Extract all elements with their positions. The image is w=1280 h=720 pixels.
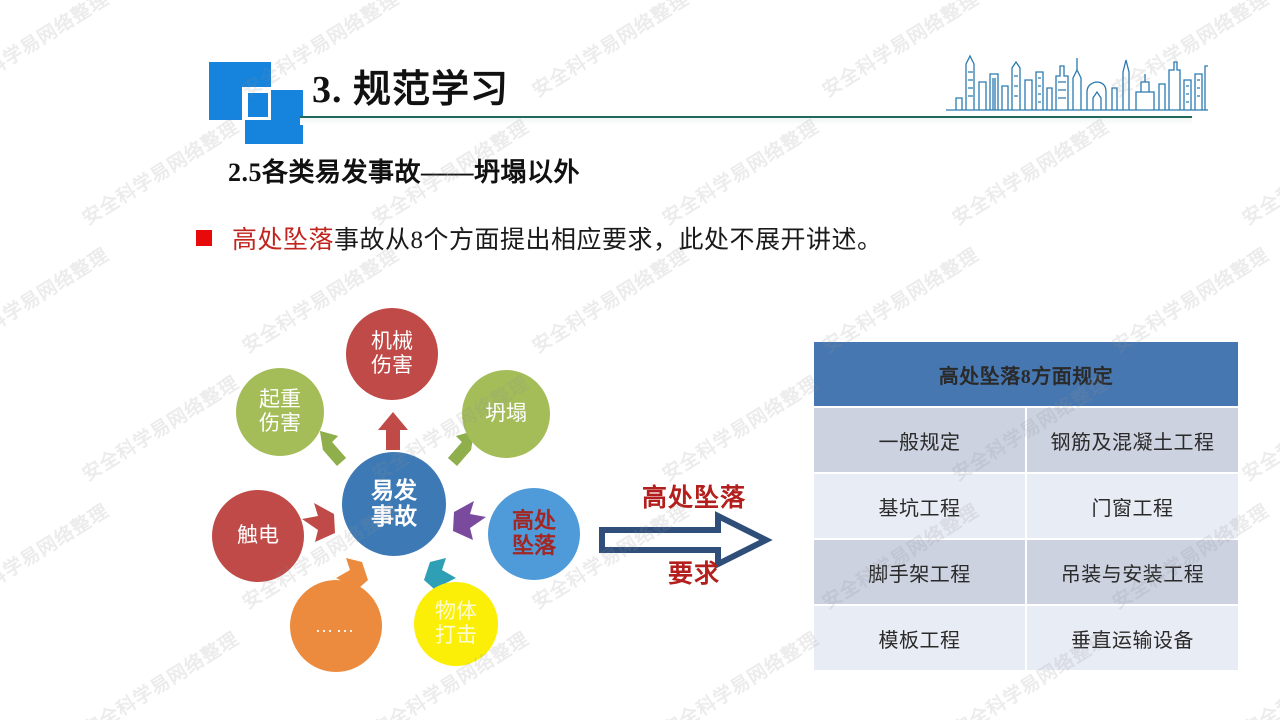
bullet-text: 高处坠落事故从8个方面提出相应要求，此处不展开讲述。 [232,220,883,256]
circle-label: 物体打击 [435,600,477,647]
bullet-highlight: 高处坠落 [232,227,334,254]
circle-fall-from-height[interactable]: 高处坠落 [488,488,580,580]
city-skyline-icon [946,52,1208,120]
circle-center-frequent-accidents[interactable]: 易发事故 [342,452,446,556]
table-cell: 模板工程 [813,605,1026,671]
arrow-left [302,503,335,542]
arrow-upper-left [320,431,346,466]
circle-collapse[interactable]: 坍塌 [462,370,550,458]
circle-label: 触电 [237,524,279,548]
circle-label: 起重伤害 [259,388,301,435]
red-square-bullet-icon [196,230,212,246]
circle-label: …… [315,616,357,636]
section-subtitle: 2.5各类易发事故——坍塌以外 [228,152,580,189]
watermark-text: 安全科学易网络整理 [657,368,824,486]
slide-header: 3. 规范学习 [0,0,1280,150]
table-cell: 钢筋及混凝土工程 [1026,407,1239,473]
circle-electric-shock[interactable]: 触电 [212,490,304,582]
table-cell: 门窗工程 [1026,473,1239,539]
transition-arrow-bottom-label: 要求 [594,554,794,590]
table-cell: 脚手架工程 [813,539,1026,605]
circle-label: 高处坠落 [512,509,556,558]
bullet-rest: 事故从8个方面提出相应要求，此处不展开讲述。 [334,227,883,254]
table-cell: 基坑工程 [813,473,1026,539]
overlapping-squares-logo [209,62,317,142]
table-row[interactable]: 模板工程 垂直运输设备 [813,605,1239,671]
circle-object-strike[interactable]: 物体打击 [414,582,498,666]
circle-label: 坍塌 [485,402,527,426]
circle-mechanical-injury[interactable]: 机械伤害 [346,308,438,400]
circle-label: 易发事故 [371,478,417,530]
table-row[interactable]: 脚手架工程 吊装与安装工程 [813,539,1239,605]
table-row[interactable]: 一般规定 钢筋及混凝土工程 [813,407,1239,473]
circle-others[interactable]: …… [290,580,382,672]
watermark-text: 安全科学易网络整理 [0,240,113,358]
table-header-cell: 高处坠落8方面规定 [813,341,1239,407]
circle-lifting-injury[interactable]: 起重伤害 [236,368,324,456]
circle-label: 机械伤害 [371,330,413,377]
watermark-text: 安全科学易网络整理 [657,624,824,720]
accident-types-diagram: 机械伤害 起重伤害 坍塌 触电 高处坠落 …… 物体打击 易发事故 [196,290,636,680]
table-cell: 垂直运输设备 [1026,605,1239,671]
fall-regulations-table: 高处坠落8方面规定 一般规定 钢筋及混凝土工程 基坑工程 门窗工程 脚手架工程 … [812,340,1240,672]
watermark-text: 安全科学易网络整理 [0,496,113,614]
page-title: 3. 规范学习 [312,58,509,113]
table-cell: 一般规定 [813,407,1026,473]
watermark-text: 安全科学易网络整理 [1237,368,1280,486]
logo-square-inner [245,90,271,120]
table-cell: 吊装与安装工程 [1026,539,1239,605]
watermark-text: 安全科学易网络整理 [1237,624,1280,720]
transition-arrow-top-label: 高处坠落 [594,478,794,514]
bullet-line: 高处坠落事故从8个方面提出相应要求，此处不展开讲述。 [196,220,883,256]
arrow-right [453,501,486,540]
table-row[interactable]: 基坑工程 门窗工程 [813,473,1239,539]
transition-arrow-group: 高处坠落 要求 [612,478,812,598]
arrow-up [378,412,408,450]
table-header-row: 高处坠落8方面规定 [813,341,1239,407]
